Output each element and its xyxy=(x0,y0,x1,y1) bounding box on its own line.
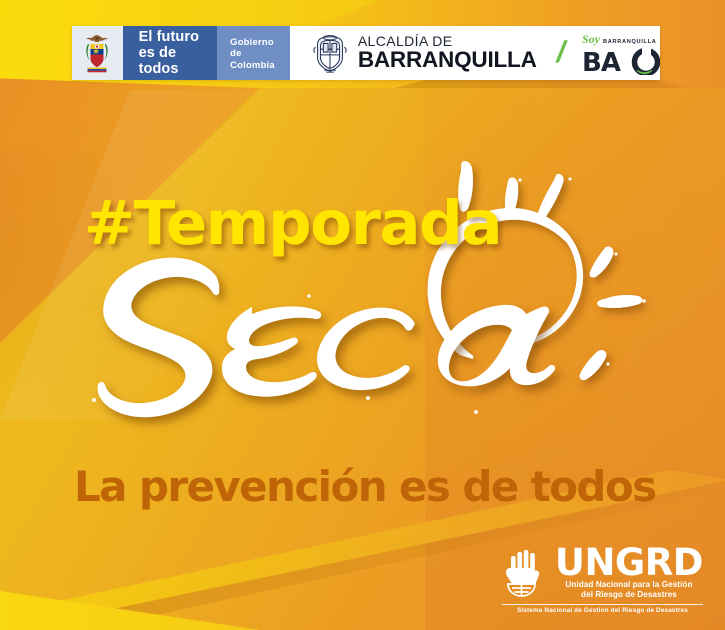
alcaldia-line1: ALCALDÍA DE xyxy=(358,34,537,48)
ungrd-name-line1: Unidad Nacional para la Gestión xyxy=(555,580,703,590)
ungrd-divider xyxy=(502,604,703,605)
gobierno-entity-name: Gobierno de Colombia xyxy=(217,26,290,80)
alcaldia-de-barranquilla-logo: ALCALDÍA DE BARRANQUILLA / Soy BARRANQUI… xyxy=(290,26,660,80)
alcaldia-wordmark: ALCALDÍA DE BARRANQUILLA xyxy=(358,34,537,72)
ungrd-system-line: Sistema Nacional de Gestión del Riesgo d… xyxy=(517,607,688,614)
seca-wordmark xyxy=(56,252,616,437)
ungrd-logo: UNGRD Unidad Nacional para la Gestión de… xyxy=(502,546,703,614)
alcaldia-line2: BARRANQUILLA xyxy=(358,49,537,72)
barranquilla-crest-icon xyxy=(310,32,350,74)
logo-separator-slash: / xyxy=(553,36,569,70)
gobierno-slogan: El futuro es de todos xyxy=(123,26,218,80)
ungrd-name-line2: del Riesgo de Desastres xyxy=(555,590,703,600)
colombia-coat-of-arms-icon xyxy=(72,26,123,80)
hashtag-temporada: #Temporada xyxy=(84,188,501,259)
temporada-seca-poster: El futuro es de todos Gobierno de Colomb… xyxy=(0,0,725,630)
institutional-logo-bar: El futuro es de todos Gobierno de Colomb… xyxy=(72,26,660,80)
tagline-text: La prevención es de todos xyxy=(74,462,656,511)
baq-city-label: BARRANQUILLA xyxy=(603,39,656,47)
baq-monogram-icon: BA xyxy=(582,48,660,75)
ungrd-acronym: UNGRD xyxy=(555,546,703,580)
gov-entity-line2: de Colombia xyxy=(230,47,275,69)
ungrd-hand-icon xyxy=(502,548,548,598)
soy-baq-logo: Soy BARRANQUILLA BA xyxy=(582,32,660,75)
baq-soy-label: Soy xyxy=(582,32,600,47)
svg-text:BA: BA xyxy=(582,48,621,75)
gobierno-de-colombia-logo: El futuro es de todos Gobierno de Colomb… xyxy=(72,26,290,80)
gov-slogan-line2: es de todos xyxy=(139,45,179,77)
gov-slogan-line1: El futuro xyxy=(139,29,200,45)
gov-entity-line1: Gobierno xyxy=(230,36,274,47)
